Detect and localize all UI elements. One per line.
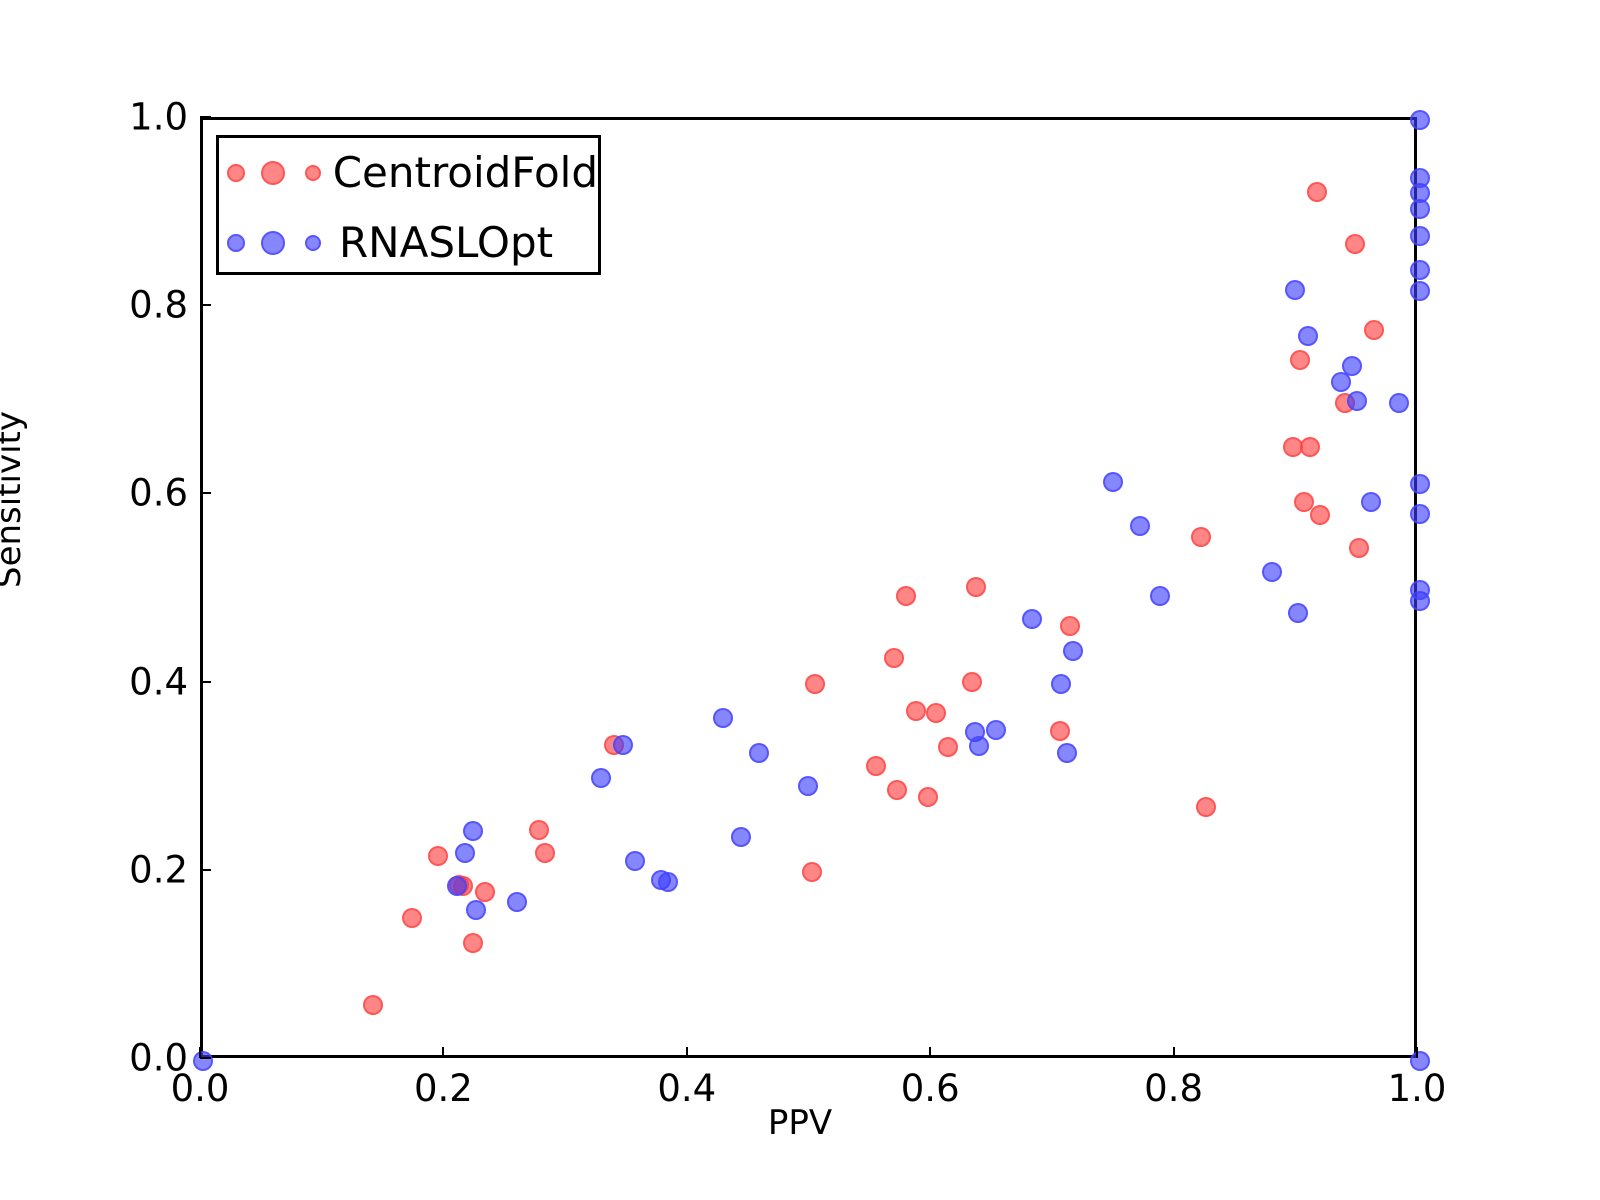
data-point-centroidfold [1310, 505, 1330, 525]
legend-label-centroidfold: CentroidFold [333, 152, 598, 194]
y-tick-mark [200, 492, 211, 494]
scatter-plot-figure: 0.00.20.40.60.81.0 0.00.20.40.60.81.0 PP… [0, 0, 1600, 1200]
data-point-rnaslopt [1285, 280, 1305, 300]
data-point-rnaslopt [1262, 562, 1282, 582]
legend-markers-rnaslopt [219, 208, 339, 278]
data-point-centroidfold [802, 862, 822, 882]
data-point-rnaslopt [1410, 580, 1430, 600]
data-point-rnaslopt [1410, 504, 1430, 524]
data-point-centroidfold [1196, 797, 1216, 817]
data-point-rnaslopt [463, 821, 483, 841]
data-point-centroidfold [887, 780, 907, 800]
data-point-centroidfold [1290, 350, 1310, 370]
data-point-rnaslopt [798, 776, 818, 796]
data-point-rnaslopt [1150, 586, 1170, 606]
data-point-centroidfold [938, 737, 958, 757]
legend-entry-centroidfold: CentroidFold [219, 138, 598, 208]
x-tick-label: 0.4 [657, 1070, 716, 1107]
x-axis-label: PPV [0, 1106, 1600, 1140]
legend: CentroidFold RNASLOpt [216, 135, 601, 275]
data-point-centroidfold [1307, 182, 1327, 202]
data-point-rnaslopt [1410, 226, 1430, 246]
data-point-rnaslopt [455, 843, 475, 863]
x-tick-mark [1416, 1047, 1418, 1058]
data-point-centroidfold [428, 846, 448, 866]
data-point-rnaslopt [1342, 356, 1362, 376]
y-tick-mark [200, 304, 211, 306]
data-point-centroidfold [529, 820, 549, 840]
y-tick-label: 1.0 [40, 99, 188, 136]
data-point-rnaslopt [625, 851, 645, 871]
data-point-rnaslopt [466, 900, 486, 920]
data-point-rnaslopt [986, 720, 1006, 740]
data-point-rnaslopt [731, 827, 751, 847]
data-point-rnaslopt [658, 872, 678, 892]
y-tick-mark [200, 681, 211, 683]
data-point-rnaslopt [1057, 743, 1077, 763]
data-point-rnaslopt [1361, 492, 1381, 512]
data-point-rnaslopt [1410, 260, 1430, 280]
data-point-centroidfold [402, 908, 422, 928]
data-point-rnaslopt [1130, 516, 1150, 536]
data-point-rnaslopt [1410, 168, 1430, 188]
legend-marker-dot [227, 234, 245, 252]
legend-marker-dot [305, 165, 321, 181]
y-tick-label: 0.2 [40, 851, 188, 888]
data-point-rnaslopt [447, 876, 467, 896]
x-tick-mark [686, 1047, 688, 1058]
legend-marker-dot [261, 231, 285, 255]
data-point-centroidfold [884, 648, 904, 668]
legend-marker-dot [305, 235, 321, 251]
data-point-centroidfold [896, 586, 916, 606]
data-point-centroidfold [962, 672, 982, 692]
data-point-centroidfold [475, 882, 495, 902]
data-point-centroidfold [926, 703, 946, 723]
legend-marker-dot [261, 161, 285, 185]
y-axis-label: Sensitivity [0, 411, 26, 588]
data-point-rnaslopt [1051, 674, 1071, 694]
data-point-centroidfold [1349, 538, 1369, 558]
data-point-centroidfold [866, 756, 886, 776]
data-point-rnaslopt [969, 736, 989, 756]
y-tick-label: 0.6 [40, 475, 188, 512]
data-point-rnaslopt [1298, 326, 1318, 346]
x-tick-mark [929, 1047, 931, 1058]
x-tick-label: 0.8 [1144, 1070, 1203, 1107]
y-tick-mark [200, 869, 211, 871]
data-point-rnaslopt [613, 735, 633, 755]
data-point-centroidfold [1060, 616, 1080, 636]
data-point-rnaslopt [507, 892, 527, 912]
data-point-rnaslopt [1347, 391, 1367, 411]
y-tick-mark [200, 1057, 211, 1059]
data-point-centroidfold [918, 787, 938, 807]
data-point-centroidfold [805, 674, 825, 694]
data-point-rnaslopt [713, 708, 733, 728]
data-point-rnaslopt [1022, 609, 1042, 629]
data-point-centroidfold [1364, 320, 1384, 340]
data-point-rnaslopt [1389, 393, 1409, 413]
data-point-rnaslopt [591, 768, 611, 788]
data-point-rnaslopt [1410, 281, 1430, 301]
data-point-rnaslopt [1063, 641, 1083, 661]
data-point-centroidfold [363, 995, 383, 1015]
data-point-rnaslopt [1288, 603, 1308, 623]
legend-markers-centroidfold [219, 138, 333, 208]
data-point-centroidfold [535, 843, 555, 863]
data-point-centroidfold [906, 701, 926, 721]
data-point-rnaslopt [1410, 474, 1430, 494]
data-point-centroidfold [966, 577, 986, 597]
legend-marker-dot [227, 164, 245, 182]
x-tick-label: 1.0 [1388, 1070, 1447, 1107]
data-point-rnaslopt [1103, 472, 1123, 492]
data-point-centroidfold [1191, 527, 1211, 547]
data-point-centroidfold [1300, 437, 1320, 457]
legend-entry-rnaslopt: RNASLOpt [219, 208, 598, 278]
data-point-centroidfold [463, 933, 483, 953]
x-tick-mark [442, 1047, 444, 1058]
x-tick-label: 0.6 [901, 1070, 960, 1107]
legend-label-rnaslopt: RNASLOpt [339, 222, 553, 264]
y-tick-label: 0.8 [40, 287, 188, 324]
y-tick-mark [200, 116, 211, 118]
data-point-centroidfold [1050, 721, 1070, 741]
data-point-rnaslopt [749, 743, 769, 763]
y-tick-label: 0.0 [40, 1040, 188, 1077]
x-tick-mark [1173, 1047, 1175, 1058]
y-tick-label: 0.4 [40, 663, 188, 700]
data-point-centroidfold [1345, 234, 1365, 254]
x-tick-label: 0.2 [414, 1070, 473, 1107]
data-point-rnaslopt [1410, 110, 1430, 130]
